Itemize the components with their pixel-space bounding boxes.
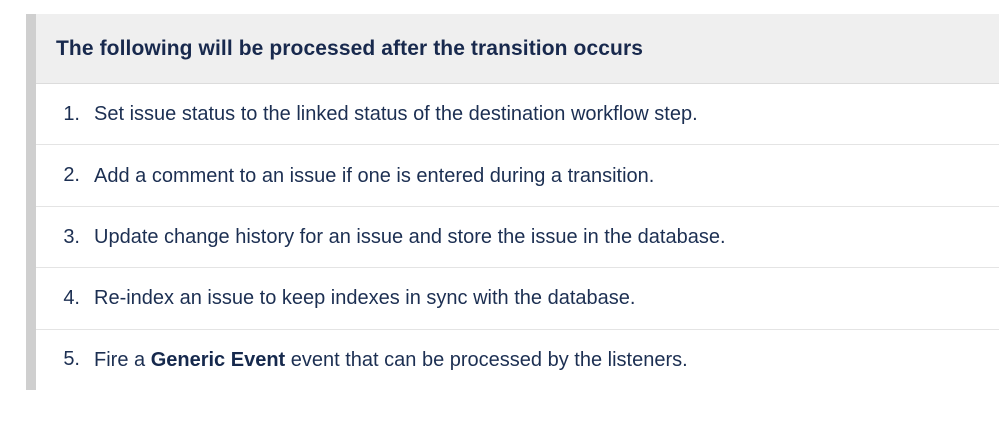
transition-info-panel: The following will be processed after th… — [26, 14, 999, 390]
list-item: 5. Fire a Generic Event event that can b… — [36, 330, 999, 390]
panel-body: The following will be processed after th… — [36, 14, 999, 390]
list-item: 4. Re-index an issue to keep indexes in … — [36, 268, 999, 329]
list-item: 1. Set issue status to the linked status… — [36, 84, 999, 145]
list-item-number: 3. — [56, 226, 94, 249]
list-item-text: Fire a Generic Event event that can be p… — [94, 347, 999, 373]
list-item-text: Set issue status to the linked status of… — [94, 101, 999, 127]
list-item-text-before: Fire a — [94, 349, 151, 371]
list-item-text: Update change history for an issue and s… — [94, 224, 999, 250]
list-item: 2. Add a comment to an issue if one is e… — [36, 145, 999, 206]
list-item-number: 1. — [56, 103, 94, 126]
panel-accent-strip — [26, 14, 36, 390]
panel-header: The following will be processed after th… — [36, 14, 999, 84]
list-item-text-before: Add a comment to an issue if one is ente… — [94, 165, 654, 187]
list-item-text-after: event that can be processed by the liste… — [285, 349, 687, 371]
list-item-text: Add a comment to an issue if one is ente… — [94, 163, 999, 189]
list-item-text: Re-index an issue to keep indexes in syn… — [94, 285, 999, 311]
list-item: 3. Update change history for an issue an… — [36, 207, 999, 268]
list-item-number: 5. — [56, 348, 94, 371]
list-item-text-before: Re-index an issue to keep indexes in syn… — [94, 287, 635, 309]
panel-title: The following will be processed after th… — [56, 37, 643, 61]
list-item-number: 2. — [56, 164, 94, 187]
list-item-number: 4. — [56, 287, 94, 310]
processing-steps-list: 1. Set issue status to the linked status… — [36, 84, 999, 390]
list-item-text-bold: Generic Event — [151, 349, 286, 371]
list-item-text-before: Update change history for an issue and s… — [94, 226, 726, 248]
list-item-text-before: Set issue status to the linked status of… — [94, 103, 698, 125]
